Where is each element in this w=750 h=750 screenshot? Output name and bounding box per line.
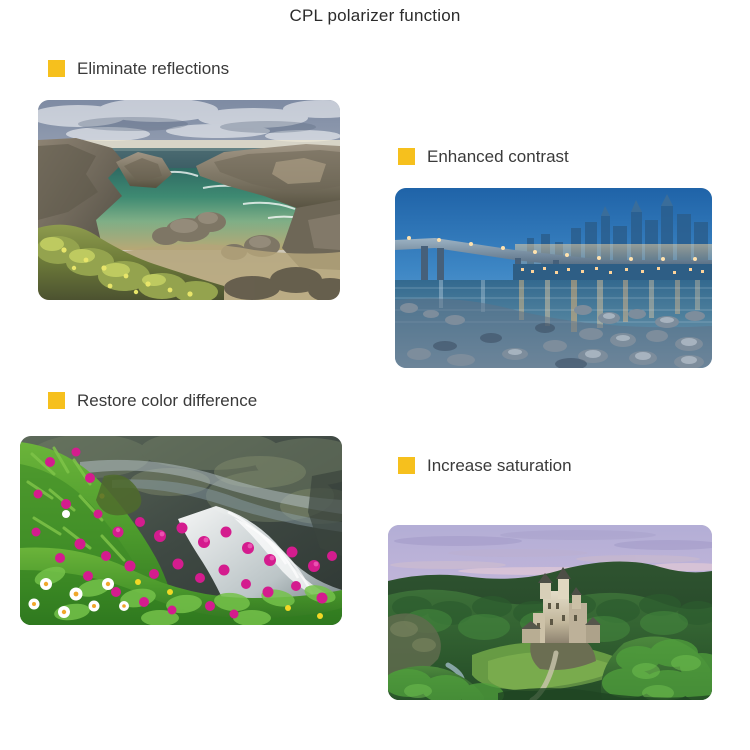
- photo-increase-saturation: [388, 525, 712, 700]
- page-title: CPL polarizer function: [0, 6, 750, 26]
- wildflowers-stream-photo-art: [20, 436, 342, 625]
- photo-enhanced-contrast: [395, 188, 712, 368]
- feature-label-eliminate-reflections: Eliminate reflections: [48, 60, 229, 77]
- cpl-polarizer-infographic: CPL polarizer function Eliminate reflect…: [0, 0, 750, 750]
- feature-label-text: Enhanced contrast: [427, 148, 569, 165]
- feature-label-text: Restore color difference: [77, 392, 257, 409]
- castle-valley-twilight-photo-art: [388, 525, 712, 700]
- coastal-cove-photo-art: [38, 100, 340, 300]
- feature-label-text: Increase saturation: [427, 457, 572, 474]
- photo-restore-color-difference: [20, 436, 342, 625]
- yellow-square-bullet-icon: [398, 457, 415, 474]
- city-bridge-bluehour-photo-art: [395, 188, 712, 368]
- feature-label-increase-saturation: Increase saturation: [398, 457, 572, 474]
- yellow-square-bullet-icon: [48, 60, 65, 77]
- feature-label-restore-color-difference: Restore color difference: [48, 392, 257, 409]
- yellow-square-bullet-icon: [48, 392, 65, 409]
- feature-label-text: Eliminate reflections: [77, 60, 229, 77]
- photo-eliminate-reflections: [38, 100, 340, 300]
- yellow-square-bullet-icon: [398, 148, 415, 165]
- feature-label-enhanced-contrast: Enhanced contrast: [398, 148, 569, 165]
